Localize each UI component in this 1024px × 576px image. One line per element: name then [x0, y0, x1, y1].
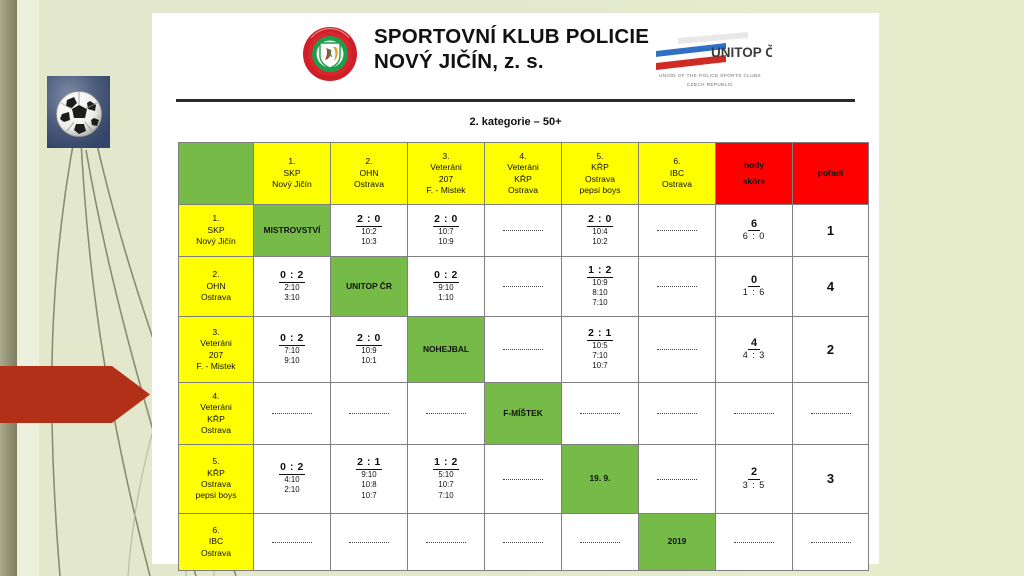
match-leg-score-1: 7:10 — [255, 346, 329, 356]
points-number-wrap: 0 — [717, 274, 791, 287]
points-number: 6 — [748, 218, 760, 231]
match-sets-score: 0 : 2 — [279, 333, 305, 346]
match-cell-5-4[interactable] — [485, 445, 562, 514]
column-header-name-1: IBC — [640, 168, 714, 179]
column-header-team-2: 2.OHNOstrava — [331, 143, 408, 205]
match-sets-wrap: 2 : 0 — [332, 214, 406, 227]
column-header-number: 3. — [409, 151, 483, 162]
rank-cell-empty — [794, 408, 867, 419]
column-header-name-3: F. - Mistek — [409, 185, 483, 196]
svg-text:UNITOP ČR: UNITOP ČR — [711, 45, 772, 60]
table-header-row: 1.SKPNový Jičín2.OHNOstrava3.Veteráni207… — [179, 143, 869, 205]
empty-dash — [657, 479, 697, 480]
empty-dash — [272, 542, 312, 543]
row-header-name-1: KŘP — [180, 468, 252, 479]
match-cell-6-3[interactable] — [408, 514, 485, 571]
rank-cell-5: 3 — [793, 445, 869, 514]
points-number: 0 — [748, 274, 760, 287]
diagonal-cell-6: 2019 — [639, 514, 716, 571]
match-sets-wrap: 0 : 2 — [255, 333, 329, 346]
empty-dash — [349, 542, 389, 543]
rank-header-label: pořadí — [794, 168, 867, 179]
empty-dash — [811, 542, 851, 543]
column-header-team-6: 6.IBCOstrava — [639, 143, 716, 205]
match-cell-4-5[interactable] — [562, 383, 639, 445]
row-header-name-2: 207 — [180, 350, 252, 361]
match-sets-score: 2 : 1 — [587, 328, 613, 341]
match-cell-2-6[interactable] — [639, 257, 716, 317]
column-header-team-5: 5.KŘPOstravapepsi boys — [562, 143, 639, 205]
match-cell-6-1[interactable] — [254, 514, 331, 571]
skp-novy-jicin-emblem-icon — [302, 26, 358, 82]
match-cell-empty — [486, 225, 560, 236]
match-leg-score-1: 4:10 — [255, 475, 329, 485]
rank-value: 2 — [794, 341, 867, 358]
match-leg-score-1: 10:5 — [563, 341, 637, 351]
match-leg-score-2: 10:1 — [332, 356, 406, 366]
page-title: SPORTOVNÍ KLUB POLICIE NOVÝ JIČÍN, z. s. — [374, 24, 649, 74]
column-header-name-2: 207 — [409, 174, 483, 185]
diagonal-cell-label: F-MÍŠTEK — [486, 408, 560, 419]
row-header-team-6: 6.IBCOstrava — [179, 514, 254, 571]
match-sets-score: 2 : 0 — [433, 214, 459, 227]
row-header-name-2: Nový Jičín — [180, 236, 252, 247]
match-cell-1-6[interactable] — [639, 205, 716, 257]
match-cell-empty — [563, 536, 637, 547]
empty-dash — [349, 413, 389, 414]
match-leg-score-2: 10:8 — [332, 480, 406, 490]
unitop-subtitle: UNION OF THE POLICE SPORTS CLUBS CZECH R… — [648, 72, 772, 89]
match-sets-wrap: 2 : 0 — [332, 333, 406, 346]
match-sets-wrap: 0 : 2 — [255, 462, 329, 475]
column-header-name-1: KŘP — [563, 162, 637, 173]
table-row: 4.VeterániKŘPOstravaF-MÍŠTEK — [179, 383, 869, 445]
match-sets-score: 2 : 0 — [587, 214, 613, 227]
match-cell-empty — [486, 281, 560, 292]
match-sets-score: 2 : 0 — [356, 214, 382, 227]
match-sets-wrap: 0 : 2 — [409, 270, 483, 283]
row-header-name-1: OHN — [180, 281, 252, 292]
match-cell-2-3[interactable]: 0 : 29:101:10 — [408, 257, 485, 317]
match-cell-empty — [640, 473, 714, 484]
match-cell-empty — [640, 408, 714, 419]
match-cell-1-3[interactable]: 2 : 010:710:9 — [408, 205, 485, 257]
match-leg-score-3: 7:10 — [563, 298, 637, 308]
diagonal-cell-1: MISTROVSTVÍ — [254, 205, 331, 257]
diagonal-cell-label: NOHEJBAL — [409, 344, 483, 355]
match-sets-score: 0 : 2 — [433, 270, 459, 283]
unitop-subtitle-line-2: CZECH REPUBLIC — [648, 81, 772, 90]
match-leg-score-2: 9:10 — [255, 356, 329, 366]
match-cell-empty — [332, 408, 406, 419]
match-cell-1-2[interactable]: 2 : 010:210:3 — [331, 205, 408, 257]
row-header-name-2: Ostrava — [180, 548, 252, 559]
points-header-score: skóre — [717, 174, 791, 190]
match-leg-score-1: 10:7 — [409, 227, 483, 237]
points-score-ratio: 4 : 3 — [717, 350, 791, 362]
match-cell-empty — [640, 281, 714, 292]
row-header-name-3: F. - Mistek — [180, 361, 252, 372]
column-header-name-3: Ostrava — [486, 185, 560, 196]
match-sets-wrap: 2 : 0 — [563, 214, 637, 227]
match-cell-1-4[interactable] — [485, 205, 562, 257]
match-leg-score-2: 10:7 — [409, 480, 483, 490]
match-cell-empty — [255, 536, 329, 547]
points-score-ratio: 1 : 6 — [717, 287, 791, 299]
row-header-name-1: Veteráni — [180, 402, 252, 413]
match-cell-empty — [486, 473, 560, 484]
match-leg-score-1: 9:10 — [409, 283, 483, 293]
match-leg-score-2: 1:10 — [409, 293, 483, 303]
match-cell-5-6[interactable] — [639, 445, 716, 514]
match-cell-empty — [332, 536, 406, 547]
diagonal-cell-label: 2019 — [640, 536, 714, 547]
column-header-name-1: Veteráni — [409, 162, 483, 173]
empty-dash — [503, 286, 543, 287]
match-cell-4-2[interactable] — [331, 383, 408, 445]
column-header-name-2: KŘP — [486, 174, 560, 185]
empty-dash — [426, 542, 466, 543]
match-leg-score-2: 10:9 — [409, 237, 483, 247]
match-leg-score-3: 10:7 — [563, 361, 637, 371]
match-cell-5-2[interactable]: 2 : 19:1010:810:7 — [331, 445, 408, 514]
category-subtitle: 2. kategorie – 50+ — [152, 116, 879, 128]
empty-dash — [811, 413, 851, 414]
empty-dash — [657, 349, 697, 350]
column-header-name-2: Ostrava — [640, 179, 714, 190]
points-number-wrap: 2 — [717, 466, 791, 479]
row-header-name-1: SKP — [180, 225, 252, 236]
column-header-name-1: OHN — [332, 168, 406, 179]
match-cell-5-1[interactable]: 0 : 24:102:10 — [254, 445, 331, 514]
column-header-rank: pořadí — [793, 143, 869, 205]
match-cell-empty — [409, 536, 483, 547]
match-sets-wrap: 2 : 0 — [409, 214, 483, 227]
row-header-team-2: 2.OHNOstrava — [179, 257, 254, 317]
match-cell-3-6[interactable] — [639, 317, 716, 383]
match-sets-score: 0 : 2 — [279, 462, 305, 475]
match-cell-empty — [255, 408, 329, 419]
diagonal-cell-label: UNITOP ČR — [332, 281, 406, 292]
points-header-body: body — [717, 158, 791, 174]
column-header-name-2: Ostrava — [563, 174, 637, 185]
column-header-name-2: Nový Jičín — [255, 179, 329, 190]
match-cell-empty — [640, 225, 714, 236]
title-line-1: SPORTOVNÍ KLUB POLICIE — [374, 24, 649, 49]
match-leg-score-2: 2:10 — [255, 485, 329, 495]
rank-cell-3: 2 — [793, 317, 869, 383]
match-sets-wrap: 2 : 1 — [563, 328, 637, 341]
row-header-number: 2. — [180, 269, 252, 280]
points-cell-2: 01 : 6 — [716, 257, 793, 317]
match-leg-score-1: 10:9 — [563, 278, 637, 288]
match-cell-5-3[interactable]: 1 : 25:1010:77:10 — [408, 445, 485, 514]
points-number-wrap: 6 — [717, 218, 791, 231]
match-cell-6-4[interactable] — [485, 514, 562, 571]
row-header-team-1: 1.SKPNový Jičín — [179, 205, 254, 257]
rank-cell-6 — [793, 514, 869, 571]
match-cell-empty — [486, 344, 560, 355]
points-cell-5: 23 : 5 — [716, 445, 793, 514]
points-number: 4 — [748, 337, 760, 350]
match-cell-3-2[interactable]: 2 : 010:910:1 — [331, 317, 408, 383]
column-header-number: 5. — [563, 151, 637, 162]
empty-dash — [657, 286, 697, 287]
row-header-number: 3. — [180, 327, 252, 338]
rank-cell-4 — [793, 383, 869, 445]
empty-dash — [657, 413, 697, 414]
diagonal-cell-label: MISTROVSTVÍ — [255, 225, 329, 236]
column-header-name-1: Veteráni — [486, 162, 560, 173]
match-leg-score-2: 3:10 — [255, 293, 329, 303]
match-sets-wrap: 1 : 2 — [409, 457, 483, 470]
column-header-team-3: 3.Veteráni207F. - Mistek — [408, 143, 485, 205]
empty-dash — [503, 230, 543, 231]
table-row: 5.KŘPOstravapepsi boys0 : 24:102:102 : 1… — [179, 445, 869, 514]
row-header-name-2: KŘP — [180, 414, 252, 425]
points-number: 2 — [748, 466, 760, 479]
points-number-wrap: 4 — [717, 337, 791, 350]
points-score-ratio: 3 : 5 — [717, 480, 791, 492]
match-leg-score-2: 7:10 — [563, 351, 637, 361]
row-header-number: 5. — [180, 456, 252, 467]
empty-dash — [734, 413, 774, 414]
match-cell-empty — [563, 408, 637, 419]
empty-dash — [272, 413, 312, 414]
match-cell-6-5[interactable] — [562, 514, 639, 571]
match-cell-2-1[interactable]: 0 : 22:103:10 — [254, 257, 331, 317]
points-cell-6 — [716, 514, 793, 571]
diagonal-cell-4: F-MÍŠTEK — [485, 383, 562, 445]
row-header-team-5: 5.KŘPOstravapepsi boys — [179, 445, 254, 514]
rank-cell-2: 4 — [793, 257, 869, 317]
points-score-ratio: 6 : 0 — [717, 231, 791, 243]
match-sets-score: 1 : 2 — [433, 457, 459, 470]
points-cell-empty — [717, 536, 791, 547]
match-cell-2-5[interactable]: 1 : 210:98:107:10 — [562, 257, 639, 317]
match-cell-4-6[interactable] — [639, 383, 716, 445]
title-line-2: NOVÝ JIČÍN, z. s. — [374, 49, 649, 74]
match-cell-3-5[interactable]: 2 : 110:57:1010:7 — [562, 317, 639, 383]
table-row: 2.OHNOstrava0 : 22:103:10UNITOP ČR0 : 29… — [179, 257, 869, 317]
match-cell-4-3[interactable] — [408, 383, 485, 445]
match-leg-score-1: 5:10 — [409, 470, 483, 480]
column-header-number: 4. — [486, 151, 560, 162]
match-leg-score-3: 7:10 — [409, 491, 483, 501]
column-header-name-3: pepsi boys — [563, 185, 637, 196]
match-sets-score: 2 : 0 — [356, 333, 382, 346]
match-sets-score: 2 : 1 — [356, 457, 382, 470]
header-divider-rule — [176, 99, 855, 102]
match-leg-score-1: 2:10 — [255, 283, 329, 293]
column-header-team-4: 4.VeterániKŘPOstrava — [485, 143, 562, 205]
results-table-container: 1.SKPNový Jičín2.OHNOstrava3.Veteráni207… — [178, 142, 879, 571]
table-row: 3.Veteráni207F. - Mistek0 : 27:109:102 :… — [179, 317, 869, 383]
row-header-name-1: IBC — [180, 536, 252, 547]
match-cell-3-4[interactable] — [485, 317, 562, 383]
row-header-name-3: pepsi boys — [180, 490, 252, 501]
match-sets-score: 0 : 2 — [279, 270, 305, 283]
row-header-name-1: Veteráni — [180, 338, 252, 349]
match-sets-wrap: 0 : 2 — [255, 270, 329, 283]
match-leg-score-1: 10:2 — [332, 227, 406, 237]
row-header-team-3: 3.Veteráni207F. - Mistek — [179, 317, 254, 383]
match-leg-score-3: 10:7 — [332, 491, 406, 501]
points-cell-empty — [717, 408, 791, 419]
rank-cell-empty — [794, 536, 867, 547]
rank-value: 3 — [794, 470, 867, 487]
slide-content-panel: SPORTOVNÍ KLUB POLICIE NOVÝ JIČÍN, z. s.… — [152, 13, 879, 564]
soccer-ball-image — [47, 76, 110, 148]
match-cell-4-1[interactable] — [254, 383, 331, 445]
empty-dash — [503, 479, 543, 480]
match-leg-score-2: 8:10 — [563, 288, 637, 298]
match-leg-score-1: 9:10 — [332, 470, 406, 480]
empty-dash — [657, 230, 697, 231]
rank-value: 4 — [794, 278, 867, 295]
table-row: 1.SKPNový JičínMISTROVSTVÍ2 : 010:210:32… — [179, 205, 869, 257]
column-header-number: 1. — [255, 156, 329, 167]
table-row: 6.IBCOstrava2019 — [179, 514, 869, 571]
row-header-name-2: Ostrava — [180, 479, 252, 490]
match-cell-empty — [640, 344, 714, 355]
match-cell-empty — [409, 408, 483, 419]
column-header-name-2: Ostrava — [332, 179, 406, 190]
match-cell-1-5[interactable]: 2 : 010:410:2 — [562, 205, 639, 257]
points-cell-4 — [716, 383, 793, 445]
document-header: SPORTOVNÍ KLUB POLICIE NOVÝ JIČÍN, z. s.… — [176, 22, 855, 96]
diagonal-cell-label: 19. 9. — [563, 473, 637, 484]
row-header-name-2: Ostrava — [180, 292, 252, 303]
column-header-number: 6. — [640, 156, 714, 167]
match-sets-wrap: 1 : 2 — [563, 265, 637, 278]
column-header-team-1: 1.SKPNový Jičín — [254, 143, 331, 205]
points-cell-1: 66 : 0 — [716, 205, 793, 257]
column-header-name-1: SKP — [255, 168, 329, 179]
diagonal-cell-2: UNITOP ČR — [331, 257, 408, 317]
row-header-number: 1. — [180, 213, 252, 224]
empty-dash — [734, 542, 774, 543]
empty-dash — [580, 413, 620, 414]
match-cell-2-4[interactable] — [485, 257, 562, 317]
match-leg-score-1: 10:9 — [332, 346, 406, 356]
row-header-number: 6. — [180, 525, 252, 536]
empty-dash — [580, 542, 620, 543]
diagonal-cell-5: 19. 9. — [562, 445, 639, 514]
column-header-number: 2. — [332, 156, 406, 167]
column-header-points: bodyskóre — [716, 143, 793, 205]
match-cell-6-2[interactable] — [331, 514, 408, 571]
empty-dash — [503, 542, 543, 543]
unitop-subtitle-line-1: UNION OF THE POLICE SPORTS CLUBS — [648, 72, 772, 81]
rank-value: 1 — [794, 222, 867, 239]
empty-dash — [503, 349, 543, 350]
empty-dash — [426, 413, 466, 414]
row-header-team-4: 4.VeterániKŘPOstrava — [179, 383, 254, 445]
match-leg-score-2: 10:2 — [563, 237, 637, 247]
match-leg-score-2: 10:3 — [332, 237, 406, 247]
row-header-name-3: Ostrava — [180, 425, 252, 436]
row-header-number: 4. — [180, 391, 252, 402]
match-leg-score-1: 10:4 — [563, 227, 637, 237]
match-cell-3-1[interactable]: 0 : 27:109:10 — [254, 317, 331, 383]
results-table: 1.SKPNový Jičín2.OHNOstrava3.Veteráni207… — [178, 142, 869, 571]
match-sets-wrap: 2 : 1 — [332, 457, 406, 470]
rank-cell-1: 1 — [793, 205, 869, 257]
table-corner-cell — [179, 143, 254, 205]
diagonal-cell-3: NOHEJBAL — [408, 317, 485, 383]
match-sets-score: 1 : 2 — [587, 265, 613, 278]
match-cell-empty — [486, 536, 560, 547]
points-cell-3: 44 : 3 — [716, 317, 793, 383]
